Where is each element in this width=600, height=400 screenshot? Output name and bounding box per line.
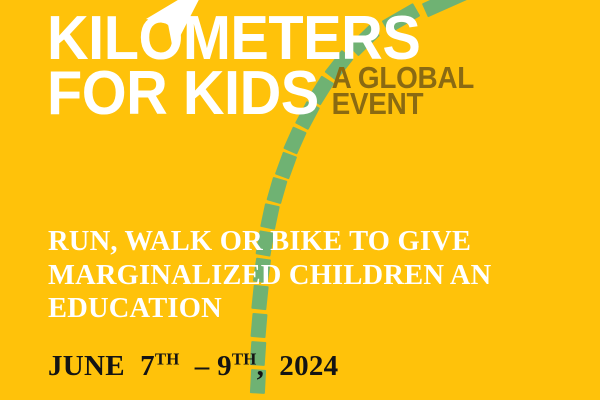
dateline-day-end: 9 — [217, 350, 232, 382]
dateline-day-start: 7 — [140, 350, 155, 382]
route-dash — [283, 126, 306, 154]
route-dash — [275, 152, 297, 180]
kicker-block: A GLOBAL EVENT — [332, 65, 490, 120]
dateline-day-start-suffix: TH — [155, 349, 180, 368]
dateline-month: JUNE — [48, 350, 125, 382]
route-dash — [266, 177, 287, 204]
dateline-separator: – — [195, 350, 210, 382]
headline-block: KILOMETERS FOR KIDS A GLOBAL EVENT — [47, 14, 512, 120]
headline-line-1: KILOMETERS — [47, 14, 479, 65]
dateline-day-end-suffix: TH — [232, 349, 257, 368]
subheadline-text: RUN, WALK OR BIKE TO GIVE MARGINALIZED C… — [48, 225, 548, 326]
event-dateline: JUNE 7TH – 9TH, 2024 — [48, 352, 338, 381]
dateline-year: 2024 — [279, 350, 338, 382]
poster-canvas: KILOMETERS FOR KIDS A GLOBAL EVENT RUN, … — [0, 0, 600, 400]
kicker-line-2: EVENT — [332, 91, 474, 118]
headline-line-2: FOR KIDS — [47, 69, 319, 120]
dateline-comma: , — [257, 350, 265, 382]
